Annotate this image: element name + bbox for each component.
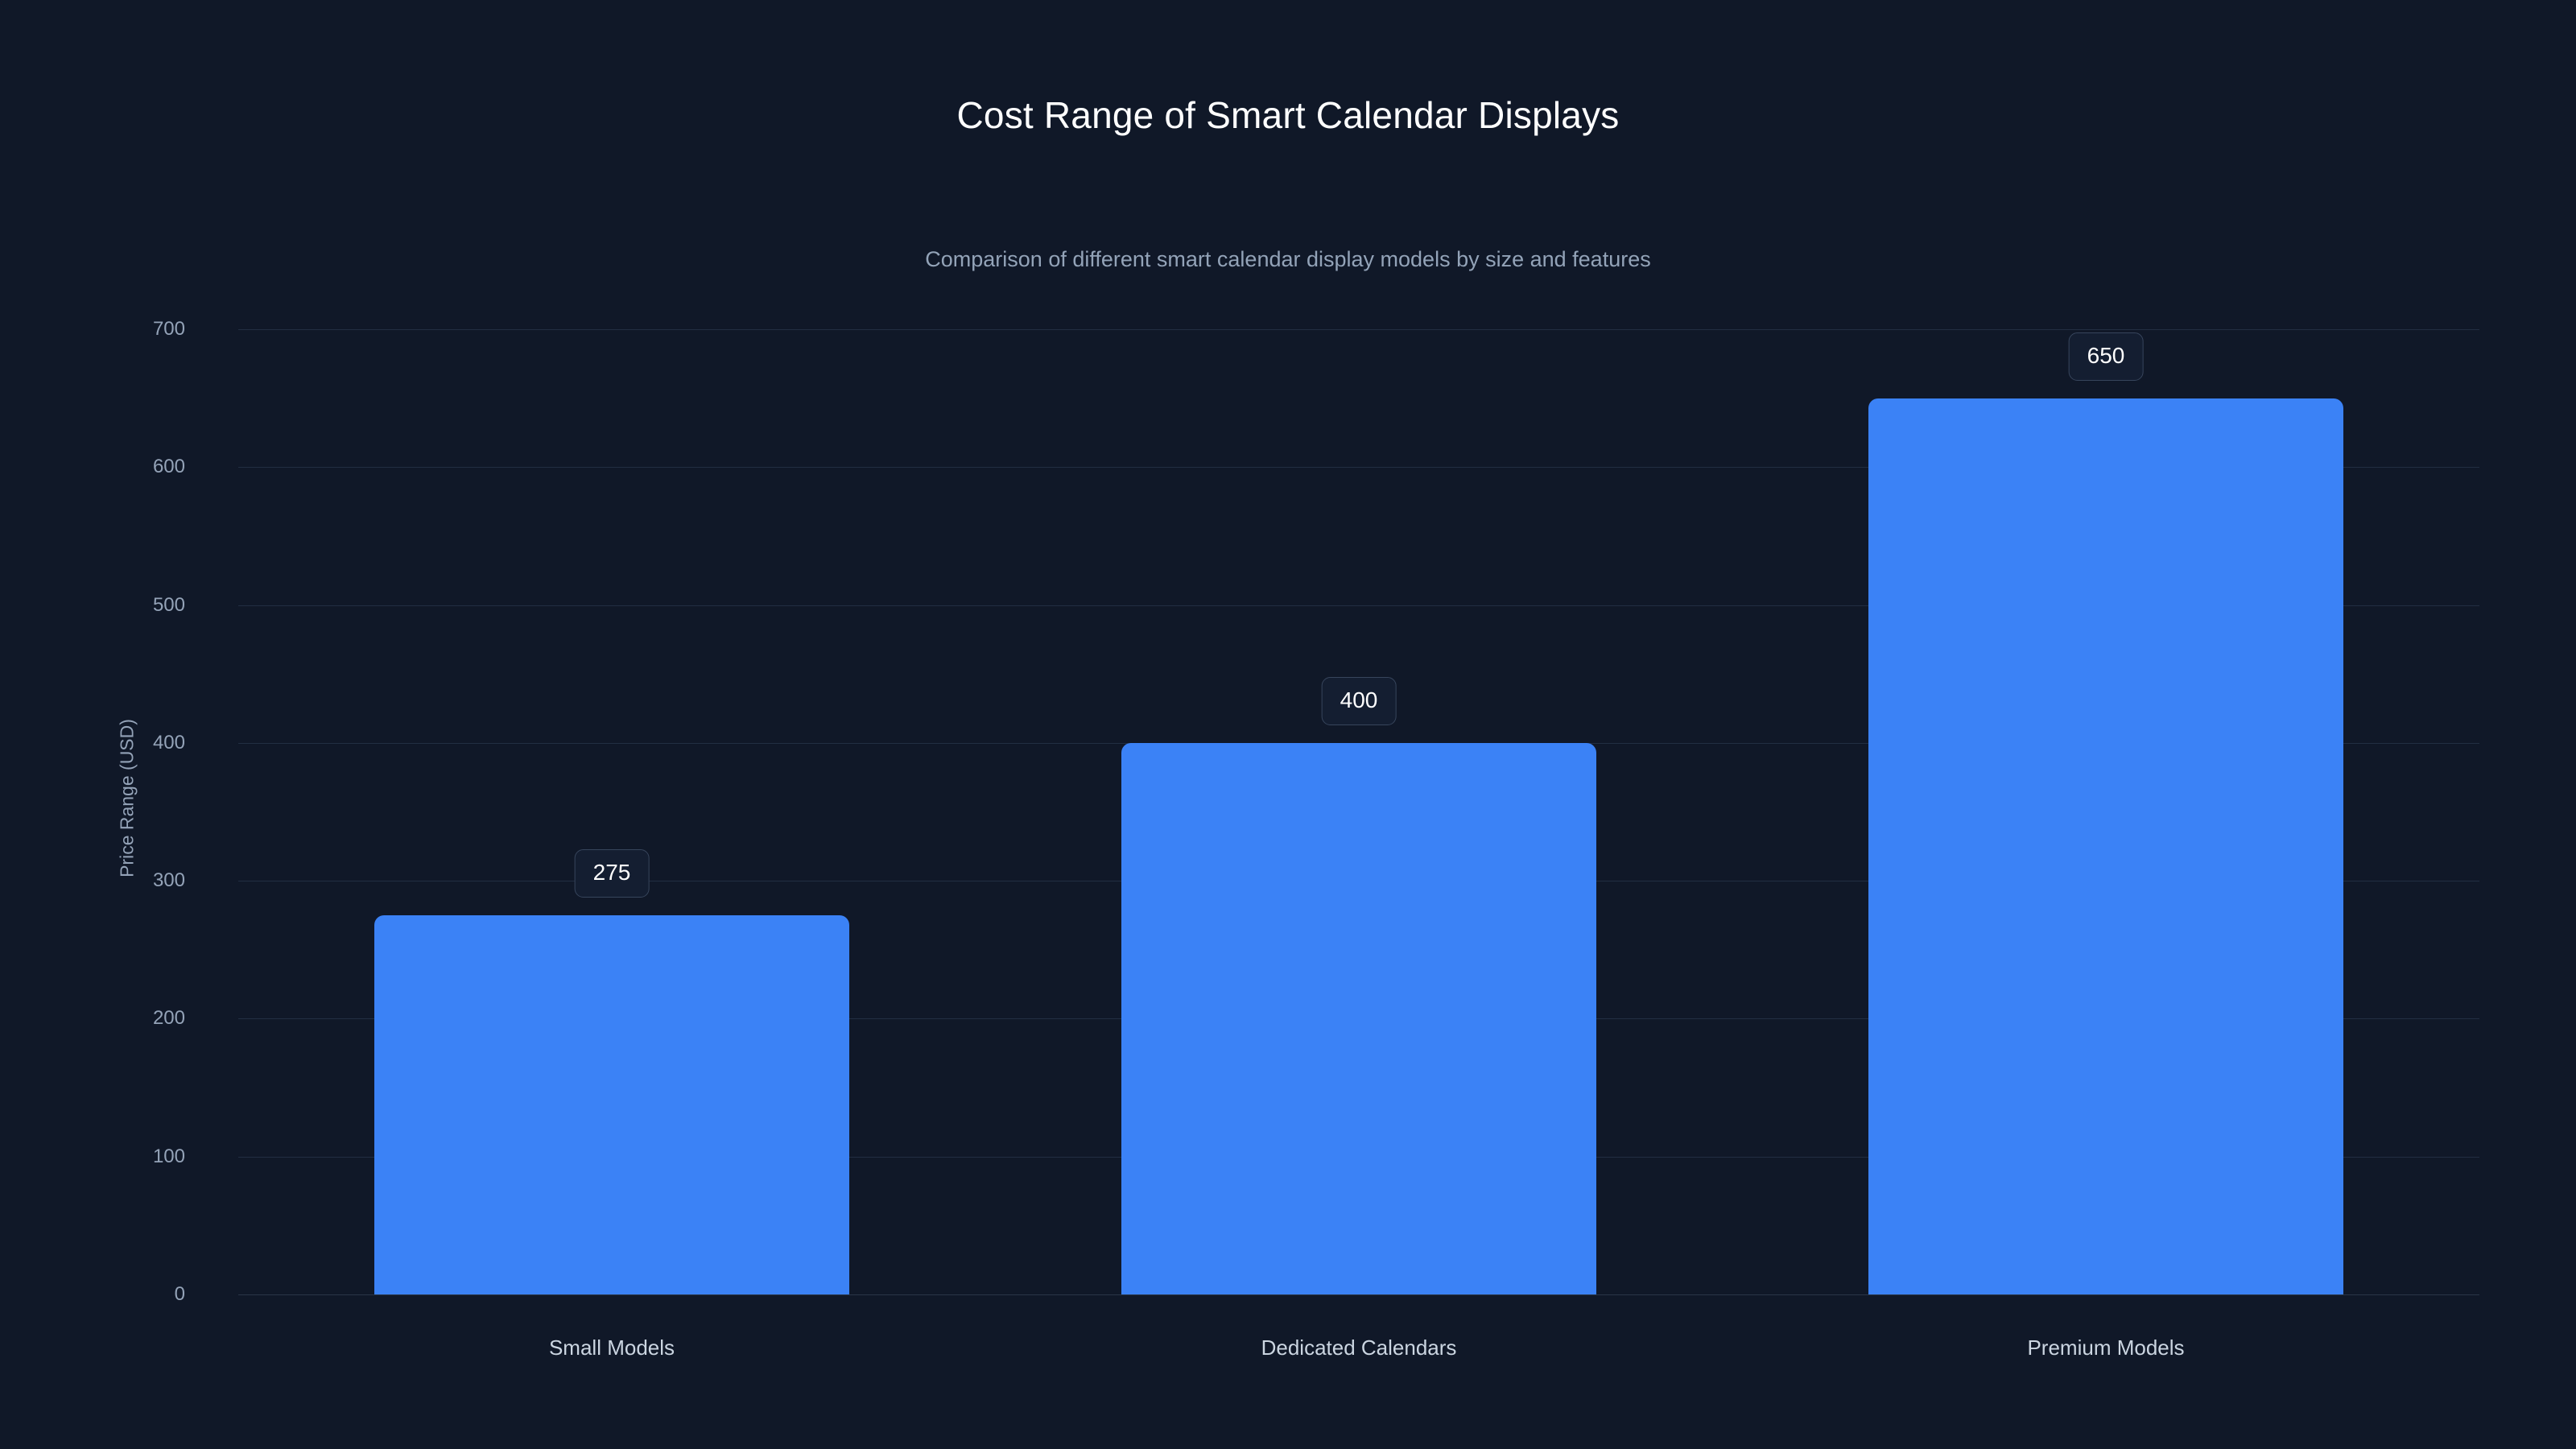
bar-chart-canvas: Cost Range of Smart Calendar Displays Co… [0,0,2576,1449]
chart-title: Cost Range of Smart Calendar Displays [0,95,2576,136]
bar[interactable] [374,915,849,1294]
y-axis-tick-label: 300 [24,871,185,890]
bar-value-label: 400 [1322,677,1397,725]
gridline [238,1294,2479,1295]
y-axis-tick-label: 200 [24,1009,185,1028]
y-axis-tick-label: 700 [24,320,185,339]
plot-area [238,329,2479,1294]
bar-value-label: 650 [2069,332,2144,381]
x-axis-tick-label: Small Models [549,1337,675,1358]
x-axis-tick-label: Dedicated Calendars [1261,1337,1457,1358]
gridline [238,329,2479,330]
bar[interactable] [1121,743,1596,1294]
y-axis-tick-label: 100 [24,1147,185,1166]
bar[interactable] [1868,398,2343,1294]
x-axis-tick-label: Premium Models [2027,1337,2184,1358]
y-axis-tick-label: 400 [24,733,185,753]
y-axis-tick-label: 500 [24,596,185,615]
y-axis-title: Price Range (USD) [117,654,138,943]
y-axis-tick-label: 600 [24,457,185,477]
bar-value-label: 275 [575,849,650,898]
y-axis-tick-label: 0 [24,1285,185,1304]
chart-subtitle: Comparison of different smart calendar d… [0,248,2576,272]
